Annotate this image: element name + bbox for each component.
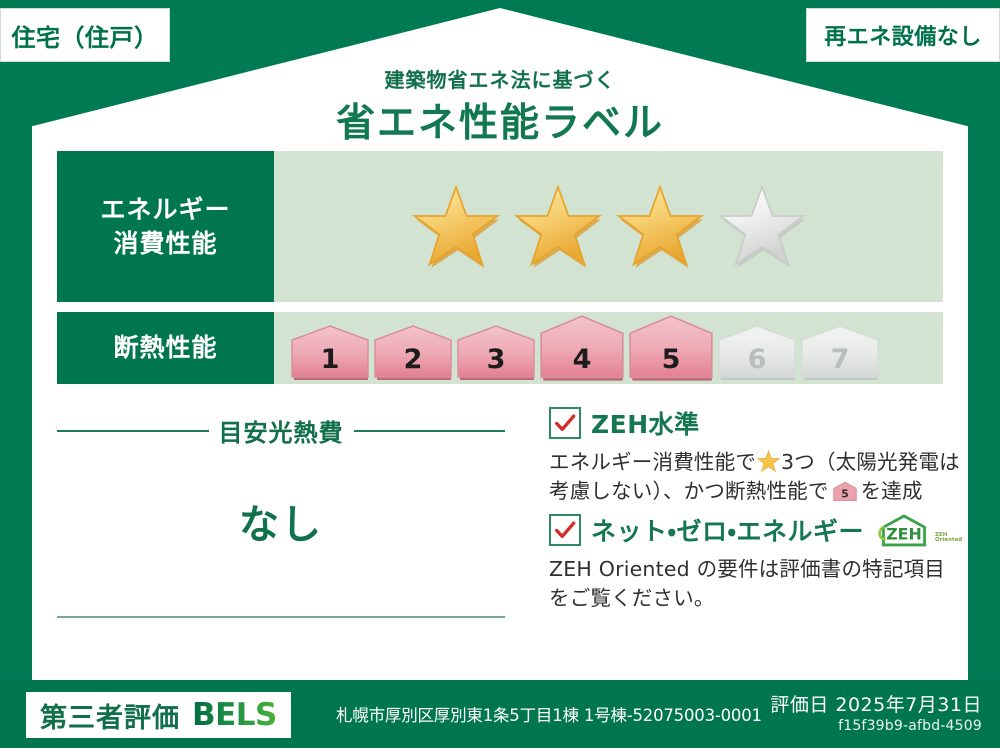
performance-section: エネルギー 消費性能 断熱性能 1234567 [57,151,943,384]
inline-grade-number: 5 [841,487,849,500]
page-title: 省エネ性能ラベル [0,92,1000,148]
tab-renewable-equipment: 再エネ設備なし [806,8,1000,62]
property-address: 札幌市厚別区厚別東1条5丁目1棟 1号棟-52075003-0001 [336,702,762,726]
evaluation-date: 評価日 2025年7月31日 [770,690,982,717]
check-body-text-part1: エネルギー消費性能で [549,450,756,474]
cost-rule-left [57,430,209,432]
insulation-performance-row: 断熱性能 1234567 [57,312,943,384]
check-icon [554,412,576,434]
star-filled-icon [412,183,500,271]
cost-rule-bottom [57,616,505,618]
utility-cost-heading: 目安光熱費 [57,413,505,448]
check-body-text-part3: を達成 [861,479,923,503]
certification-checks-column: ZEH水準 エネルギー消費性能で 3つ（太陽光発電は考慮しない）、かつ断熱性能で… [527,405,962,640]
insulation-performance-label-cell: 断熱性能 [57,312,274,384]
footer-bar: 第三者評価 BELS 札幌市厚別区厚別東1条5丁目1棟 1号棟-52075003… [0,680,1000,748]
tab-building-type-label: 住宅（住戸） [12,18,159,53]
tab-renewable-equipment-label: 再エネ設備なし [824,19,982,51]
grade-number: 7 [800,344,880,375]
energy-performance-value-cell [274,151,943,302]
inline-grade-badge-icon: 5 [832,481,858,501]
document-id: f15f39b9-afbd-4509 [770,718,982,734]
evaluation-date-block: 評価日 2025年7月31日 f15f39b9-afbd-4509 [770,690,982,734]
grade-number: 5 [628,344,714,375]
grade-badge-4: 4 [539,315,625,382]
star-filled-icon [616,183,704,271]
inline-star-icon [757,450,780,473]
grade-number: 3 [456,344,536,375]
energy-label-line1: エネルギー [100,193,230,227]
bels-badge: 第三者評価 BELS [26,692,291,738]
grade-badge-7: 7 [800,325,880,381]
label-subtitle: 建築物省エネ法に基づく [0,64,1000,93]
grade-number: 4 [539,344,625,375]
check-item-zeh-standard: ZEH水準 エネルギー消費性能で 3つ（太陽光発電は考慮しない）、かつ断熱性能で… [549,405,962,506]
grade-number: 1 [290,344,370,375]
check-title-zeh-standard: ZEH水準 [591,405,700,441]
grade-badge-3: 3 [456,325,536,381]
check-body-text: ZEH Oriented の要件は評価書の特記項目をご覧ください。 [549,557,945,610]
grade-badge-1: 1 [290,325,370,381]
zeh-logo: ZEH ZEH Oriented [876,513,962,547]
check-icon [554,519,576,541]
star-rating [412,183,806,271]
insulation-performance-value-cell: 1234567 [274,312,943,384]
grade-number: 2 [373,344,453,375]
energy-label-line2: 消費性能 [113,227,217,261]
zeh-logo-subtext: ZEH Oriented [935,533,962,548]
grade-badge-2: 2 [373,325,453,381]
check-item-net-zero-energy: ネット・ゼロ・エネルギー ZEH ZEH Oriented ZEH Orient… [549,512,962,613]
star-empty-icon [718,183,806,271]
check-body-net-zero-energy: ZEH Oriented の要件は評価書の特記項目をご覧ください。 [549,555,962,613]
cost-rule-right [354,430,506,432]
tab-building-type: 住宅（住戸） [0,8,170,62]
checkbox-zeh-standard[interactable] [549,407,581,439]
grade-badge-5: 5 [628,315,714,382]
utility-cost-value: なし [57,492,505,550]
check-head-zeh-standard: ZEH水準 [549,405,962,441]
lower-section: 目安光熱費 なし ZEH水準 エネルギー消費性能で [57,405,943,640]
utility-cost-heading-label: 目安光熱費 [219,413,344,448]
star-filled-icon [514,183,602,271]
grade-number: 6 [717,344,797,375]
insulation-label-line1: 断熱性能 [113,331,217,365]
bels-logo-text: BELS [192,697,277,733]
check-head-net-zero-energy: ネット・ゼロ・エネルギー ZEH ZEH Oriented [549,512,962,548]
energy-performance-label: 住宅（住戸） 再エネ設備なし 建築物省エネ法に基づく 省エネ性能ラベル エネルギ… [0,0,1000,748]
bels-japanese-label: 第三者評価 [40,696,180,735]
insulation-grade-scale: 1234567 [290,315,880,382]
check-body-zeh-standard: エネルギー消費性能で 3つ（太陽光発電は考慮しない）、かつ断熱性能で 5 を達成 [549,448,962,506]
zeh-logo-text: ZEH [886,525,922,544]
utility-cost-column: 目安光熱費 なし [57,405,527,640]
energy-performance-row: エネルギー 消費性能 [57,151,943,302]
checkbox-net-zero-energy[interactable] [549,514,581,546]
zeh-house-icon: ZEH [876,513,932,547]
energy-performance-label-cell: エネルギー 消費性能 [57,151,274,302]
grade-badge-6: 6 [717,325,797,381]
check-title-net-zero-energy: ネット・ゼロ・エネルギー [591,512,864,548]
